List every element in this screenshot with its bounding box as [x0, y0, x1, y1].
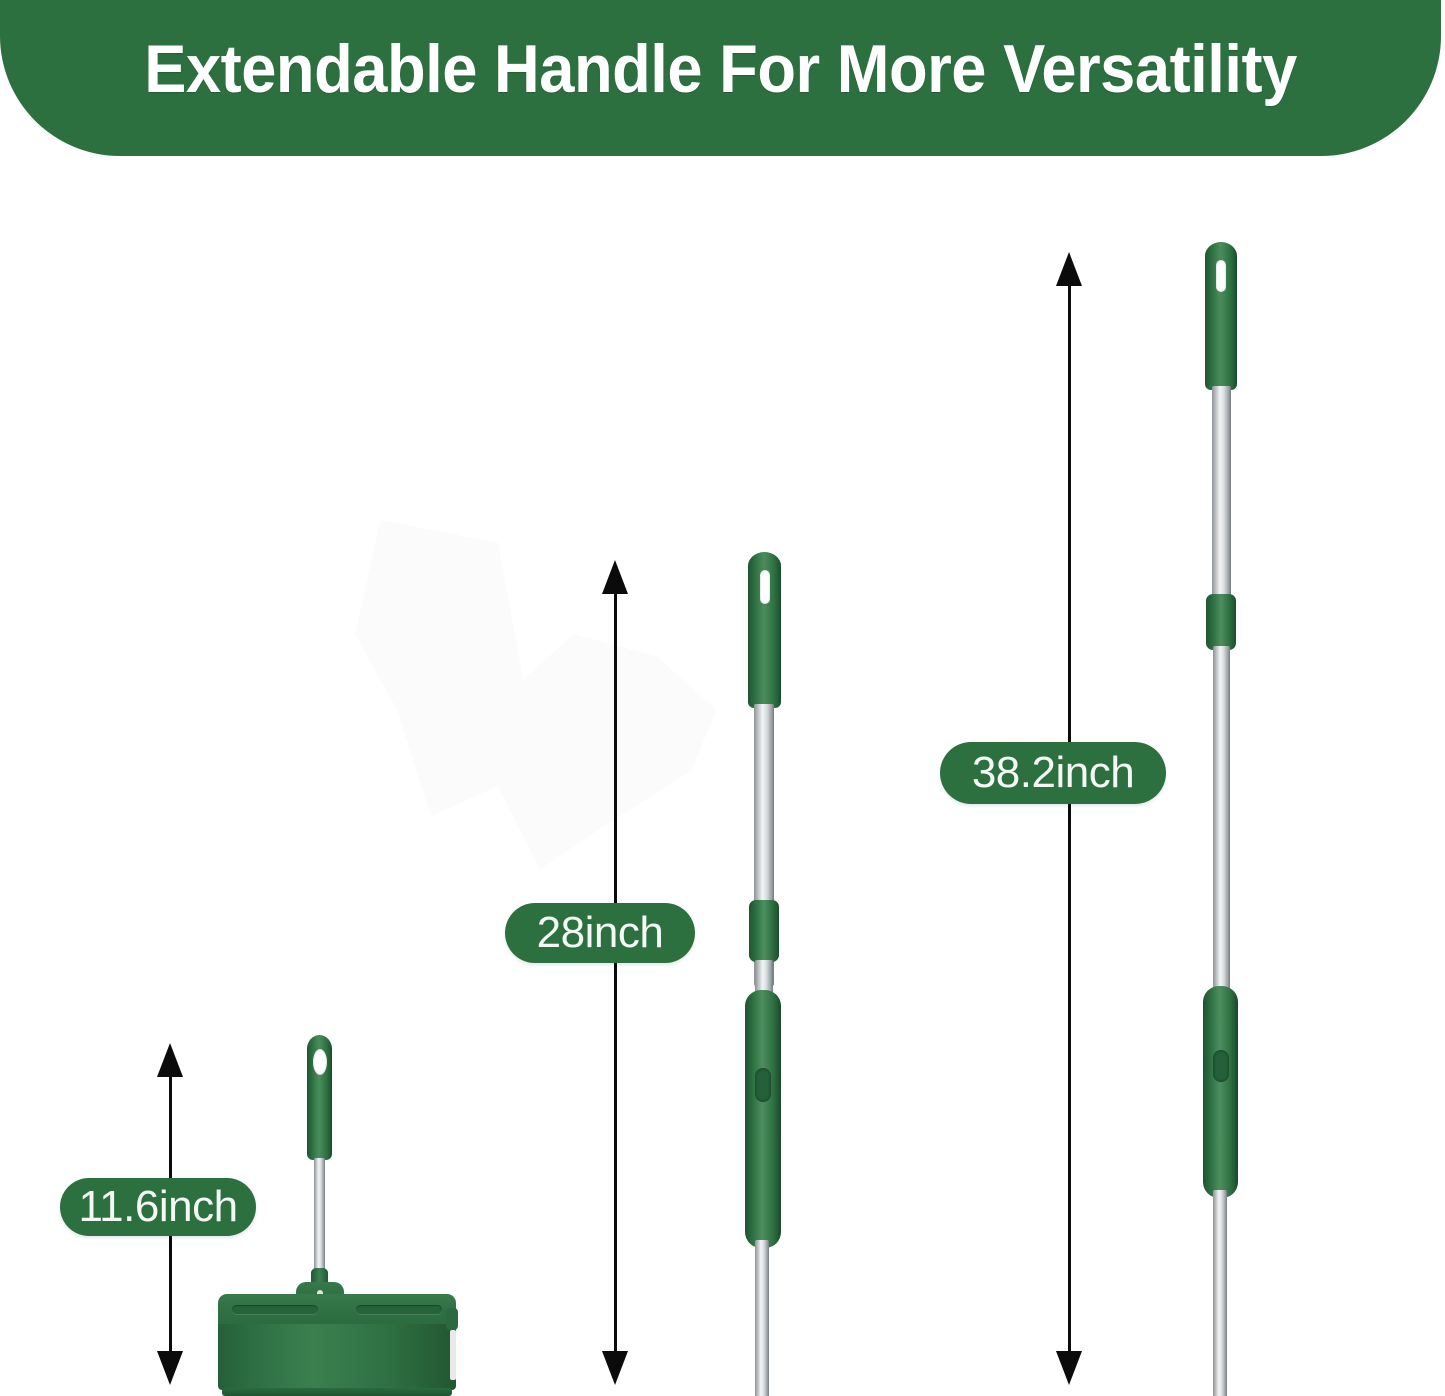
hang-hole-icon — [313, 1049, 327, 1075]
hang-hole-icon — [1216, 260, 1226, 292]
mop-lock-sleeve — [745, 990, 781, 1248]
arrow-stem — [1068, 282, 1071, 1355]
mop-lock-sleeve — [1203, 986, 1238, 1198]
mop-shaft-lower — [1213, 1190, 1227, 1396]
dimension-arrow-center — [602, 560, 628, 1385]
telescope-release-button[interactable] — [1213, 1050, 1229, 1082]
mop-shaft-lower — [755, 1240, 769, 1396]
mop-collapsed — [190, 1030, 460, 1396]
infographic-canvas: Extendable Handle For More Versatility 1… — [0, 0, 1445, 1396]
arrow-head-down-icon — [1056, 1351, 1082, 1385]
mop-head-top-plate — [218, 1294, 456, 1328]
hang-hole-icon — [760, 570, 770, 604]
mop-head-pad-edge — [450, 1330, 456, 1380]
telescope-release-button[interactable] — [755, 1068, 771, 1102]
mop-head-body — [218, 1324, 456, 1390]
page-title: Extendable Handle For More Versatility — [50, 30, 1390, 108]
mop-shaft-upper — [1212, 386, 1231, 608]
arrow-head-down-icon — [602, 1351, 628, 1385]
arrow-head-up-icon — [1056, 252, 1082, 286]
mop-handle-grip — [748, 552, 781, 708]
header-banner: Extendable Handle For More Versatility — [0, 0, 1441, 156]
mop-mid-extended — [640, 548, 940, 1396]
mop-head-groove-left — [232, 1305, 318, 1314]
arrow-head-up-icon — [602, 560, 628, 594]
mop-telescope-collar — [1206, 594, 1236, 650]
mop-head-side-clip — [446, 1308, 458, 1330]
mop-handle-grip — [307, 1035, 332, 1160]
mop-shaft — [314, 1158, 325, 1272]
mop-head — [218, 1294, 456, 1396]
mop-fully-extended — [1095, 238, 1405, 1396]
dimension-arrow-right — [1056, 252, 1082, 1385]
mop-head-bottom-lip — [222, 1388, 452, 1396]
mop-telescope-collar — [749, 900, 779, 962]
arrow-head-down-icon — [157, 1351, 183, 1385]
mop-shaft-middle — [1213, 646, 1230, 996]
arrow-stem — [614, 590, 617, 1355]
arrow-head-up-icon — [157, 1043, 183, 1077]
mop-head-groove-right — [356, 1305, 442, 1314]
mop-handle-grip — [1205, 242, 1237, 390]
